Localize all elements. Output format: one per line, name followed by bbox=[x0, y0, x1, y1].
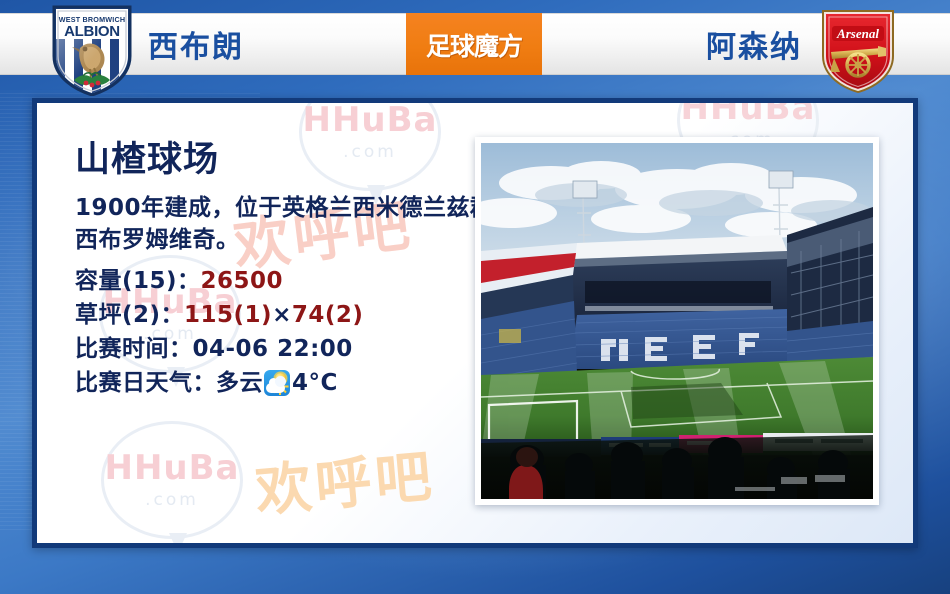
capacity-separator: ： bbox=[177, 268, 201, 294]
watermark-cn-bottom: 欢呼吧 bbox=[252, 431, 438, 527]
watermark-bubble-text: HHuBa bbox=[105, 451, 240, 485]
match-weather-label: 比赛日天气 bbox=[75, 366, 193, 400]
capacity-label: 容量(15) bbox=[75, 268, 177, 294]
stadium-title: 山楂球场 bbox=[75, 141, 495, 180]
stadium-photo-frame bbox=[475, 137, 879, 505]
watermark-bubble-bottom: HHuBa .com bbox=[101, 421, 243, 539]
pitch-length: 115(1) bbox=[184, 302, 272, 328]
match-time-separator: ： bbox=[169, 336, 193, 362]
site-logo[interactable]: 足球魔方 bbox=[406, 13, 542, 75]
stadium-info-card-inner: HHuBa .com HHuBa .com HHuBa .com HHuBa .… bbox=[37, 103, 913, 543]
stadium-info: 山楂球场 1900年建成，位于英格兰西米德兰兹郡西布罗姆维奇。 容量(15)：2… bbox=[75, 141, 495, 400]
match-weather-value: 多云 bbox=[216, 366, 263, 400]
match-time-row: 比赛时间：04-06 22:00 bbox=[75, 332, 495, 366]
away-team-name: 阿森纳 bbox=[706, 22, 802, 66]
west-bromwich-albion-crest: WEST BROMWICH ALBION bbox=[50, 4, 134, 96]
stadium-description: 1900年建成，位于英格兰西米德兰兹郡西布罗姆维奇。 bbox=[75, 192, 495, 257]
match-header: WEST BROMWICH ALBION 西布朗 足球魔方 阿森纳 bbox=[0, 0, 950, 88]
capacity-row: 容量(15)：26500 bbox=[75, 264, 495, 298]
match-temperature: 4°C bbox=[292, 366, 338, 400]
stadium-info-card: HHuBa .com HHuBa .com HHuBa .com HHuBa .… bbox=[32, 98, 918, 548]
arsenal-crest: Arsenal bbox=[818, 6, 898, 94]
pitch-label: 草坪(2) bbox=[75, 302, 161, 328]
match-weather-row: 比赛日天气：多云 4°C bbox=[75, 366, 495, 400]
pitch-row: 草坪(2)：115(1)×74(2) bbox=[75, 298, 495, 332]
site-logo-text: 足球魔方 bbox=[406, 27, 542, 63]
stadium-photo bbox=[481, 143, 873, 499]
page-background: WEST BROMWICH ALBION 西布朗 足球魔方 阿森纳 bbox=[0, 0, 950, 594]
wba-crest-line2: ALBION bbox=[64, 23, 120, 40]
pitch-times: × bbox=[272, 302, 292, 328]
match-time-value: 04-06 22:00 bbox=[193, 336, 353, 362]
match-weather-separator: ： bbox=[193, 366, 217, 400]
watermark-bubble-text: HHuBa bbox=[303, 103, 438, 137]
partly-cloudy-sun-icon bbox=[264, 370, 290, 396]
capacity-value: 26500 bbox=[201, 268, 284, 294]
watermark-bubble-text: HHuBa bbox=[681, 103, 816, 125]
home-team-name: 西布朗 bbox=[148, 22, 244, 66]
match-time-label: 比赛时间 bbox=[75, 336, 169, 362]
arsenal-crest-text: Arsenal bbox=[836, 26, 879, 41]
pitch-separator: ： bbox=[161, 302, 185, 328]
watermark-bubble-domain: .com bbox=[145, 490, 199, 510]
pitch-width: 74(2) bbox=[292, 302, 364, 328]
